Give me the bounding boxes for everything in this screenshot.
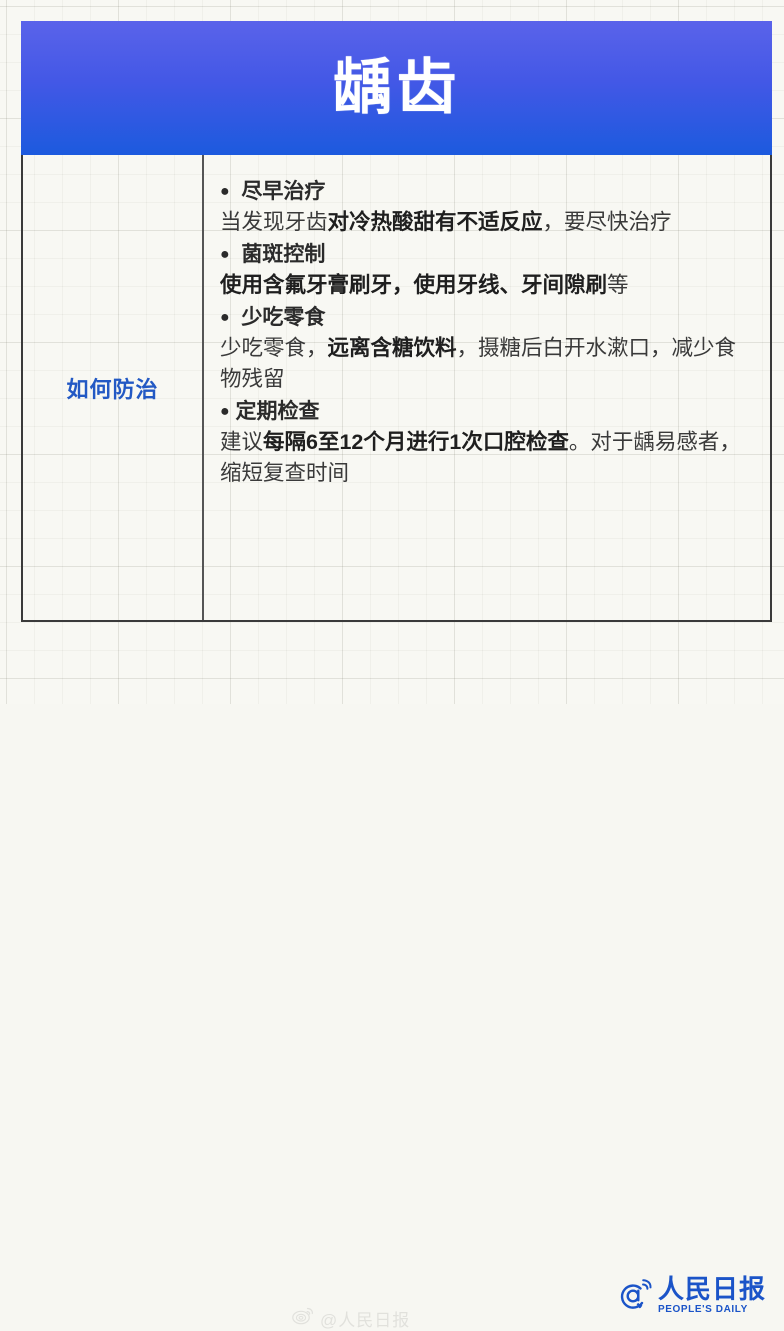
brand-text-stack: 人民日报 PEOPLE'S DAILY xyxy=(658,1276,766,1315)
watermark-text: @人民日报 xyxy=(320,1306,410,1331)
list-item: ● 少吃零食 少吃零食，远离含糖饮料，摄糖后白开水漱口，减少食物残留 xyxy=(220,303,756,395)
bullet-heading-row: ● 菌斑控制 xyxy=(220,240,756,270)
weibo-watermark: @人民日报 xyxy=(292,1306,410,1331)
bullet-body-text: 当发现牙齿对冷热酸甜有不适反应，要尽快治疗 xyxy=(220,207,756,238)
bullet-heading-text: 定期检查 xyxy=(236,400,320,423)
list-item: ● 尽早治疗 当发现牙齿对冷热酸甜有不适反应，要尽快治疗 xyxy=(220,177,756,238)
table-row-label-cell: 如何防治 xyxy=(23,155,204,620)
bullet-text-plain-lead: 当发现牙齿 xyxy=(220,210,328,234)
weibo-icon xyxy=(292,1307,314,1330)
bullet-dot-icon: ● xyxy=(220,246,230,263)
bullet-heading-row: ● 少吃零食 xyxy=(220,303,756,333)
bullet-text-plain-tail: 等 xyxy=(607,273,629,297)
bullet-dot-icon: ● xyxy=(220,403,230,420)
table-content-cell: ● 尽早治疗 当发现牙齿对冷热酸甜有不适反应，要尽快治疗 ● 菌斑控制 使用含氟… xyxy=(204,155,770,620)
bullet-text-plain-tail: ，要尽快治疗 xyxy=(543,210,672,234)
card-header-band: 龋齿 xyxy=(21,21,772,155)
bullet-heading-row: ● 定期检查 xyxy=(220,397,756,427)
bullet-text-emphasis: 远离含糖饮料 xyxy=(328,336,457,360)
bullet-body-text: 使用含氟牙膏刷牙，使用牙线、牙间隙刷等 xyxy=(220,270,756,301)
list-item: ● 定期检查 建议每隔6至12个月进行1次口腔检查。对于龋易感者，缩短复查时间 xyxy=(220,397,756,489)
bullet-heading-text: 菌斑控制 xyxy=(241,243,325,266)
page-title: 龋齿 xyxy=(333,58,461,118)
info-table: 如何防治 ● 尽早治疗 当发现牙齿对冷热酸甜有不适反应，要尽快治疗 ● 菌斑控制… xyxy=(21,155,772,622)
brand-name-en: PEOPLE'S DAILY xyxy=(658,1304,766,1315)
bullet-text-emphasis: 对冷热酸甜有不适反应 xyxy=(328,210,543,234)
bullet-text-emphasis: 使用含氟牙膏刷牙，使用牙线、牙间隙刷 xyxy=(220,273,607,297)
info-card: 龋齿 如何防治 ● 尽早治疗 当发现牙齿对冷热酸甜有不适反应，要尽快治疗 ● 菌… xyxy=(21,21,772,622)
row-label: 如何防治 xyxy=(66,372,158,404)
bullet-body-text: 建议每隔6至12个月进行1次口腔检查。对于龋易感者，缩短复查时间 xyxy=(220,427,756,489)
bullet-text-emphasis: 每隔6至12个月进行1次口腔检查 xyxy=(263,430,569,454)
bullet-text-plain-lead: 建议 xyxy=(220,430,263,454)
bullet-dot-icon: ● xyxy=(220,183,230,200)
bullet-text-plain-lead: 少吃零食， xyxy=(220,336,328,360)
footer: @人民日报 人民日报 PEOPLE'S DAILY xyxy=(0,630,784,704)
bullet-dot-icon: ● xyxy=(220,309,230,326)
bullet-heading-text: 少吃零食 xyxy=(241,306,325,329)
brand-name-cn: 人民日报 xyxy=(658,1276,766,1303)
peoples-daily-logo: 人民日报 PEOPLE'S DAILY xyxy=(613,1276,766,1321)
bullet-heading-text: 尽早治疗 xyxy=(241,180,325,203)
bullet-body-text: 少吃零食，远离含糖饮料，摄糖后白开水漱口，减少食物残留 xyxy=(220,333,756,395)
bullet-heading-row: ● 尽早治疗 xyxy=(220,177,756,207)
at-symbol-icon xyxy=(613,1276,653,1321)
list-item: ● 菌斑控制 使用含氟牙膏刷牙，使用牙线、牙间隙刷等 xyxy=(220,240,756,301)
